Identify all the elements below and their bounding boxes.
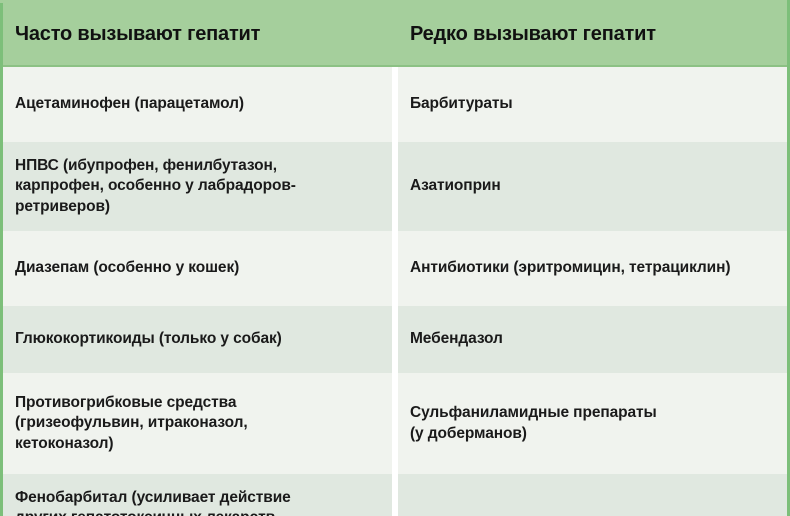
cell-text: Диазепам (особенно у кошек) — [15, 258, 380, 279]
cell-frequent-6: Фенобарбитал (усиливает действие других … — [2, 474, 392, 516]
table-body: Ацетаминофен (парацетамол) Барбитураты Н… — [2, 66, 789, 516]
column-header-frequent: Часто вызывают гепатит — [2, 2, 392, 67]
cell-rare-3: Антибиотики (эритромицин, тетрациклин) — [398, 231, 789, 306]
cell-frequent-3: Диазепам (особенно у кошек) — [2, 231, 392, 306]
cell-rare-6: Метимазол, карбимазол, тирозол — [398, 474, 789, 516]
cell-text: Азатиоприн — [410, 176, 775, 197]
cell-text: Антибиотики (эритромицин, тетрациклин) — [410, 258, 775, 279]
cell-text: Фенобарбитал (усиливает действие других … — [15, 488, 380, 516]
cell-text: Барбитураты — [410, 94, 775, 115]
table-row: Противогрибковые средства (гризеофульвин… — [2, 373, 789, 474]
cell-frequent-1: Ацетаминофен (парацетамол) — [2, 66, 392, 142]
table-row: Диазепам (особенно у кошек) Антибиотики … — [2, 231, 789, 306]
cell-rare-4: Мебендазол — [398, 306, 789, 373]
table-row: НПВС (ибупрофен, фенилбутазон, карпрофен… — [2, 142, 789, 231]
cell-rare-5: Сульфаниламидные препараты (у доберманов… — [398, 373, 789, 474]
cell-text: Противогрибковые средства (гризеофульвин… — [15, 393, 380, 455]
cell-rare-2: Азатиоприн — [398, 142, 789, 231]
cell-frequent-4: Глюкокортикоиды (только у собак) — [2, 306, 392, 373]
cell-text: Мебендазол — [410, 329, 775, 350]
cell-frequent-2: НПВС (ибупрофен, фенилбутазон, карпрофен… — [2, 142, 392, 231]
cell-text: Сульфаниламидные препараты (у доберманов… — [410, 403, 775, 444]
table-row: Фенобарбитал (усиливает действие других … — [2, 474, 789, 516]
table-row: Ацетаминофен (парацетамол) Барбитураты — [2, 66, 789, 142]
cell-frequent-5: Противогрибковые средства (гризеофульвин… — [2, 373, 392, 474]
cell-text: НПВС (ибупрофен, фенилбутазон, карпрофен… — [15, 156, 380, 218]
header-row: Часто вызывают гепатит Редко вызывают ге… — [2, 2, 789, 67]
drug-hepatotoxicity-table: Часто вызывают гепатит Редко вызывают ге… — [0, 0, 790, 516]
cell-text: Глюкокортикоиды (только у собак) — [15, 329, 380, 350]
drug-hepatotoxicity-table-container: Часто вызывают гепатит Редко вызывают ге… — [0, 0, 790, 516]
cell-rare-1: Барбитураты — [398, 66, 789, 142]
column-header-rare: Редко вызывают гепатит — [398, 2, 789, 67]
cell-text: Ацетаминофен (парацетамол) — [15, 94, 380, 115]
table-header: Часто вызывают гепатит Редко вызывают ге… — [2, 2, 789, 67]
table-row: Глюкокортикоиды (только у собак) Мебенда… — [2, 306, 789, 373]
